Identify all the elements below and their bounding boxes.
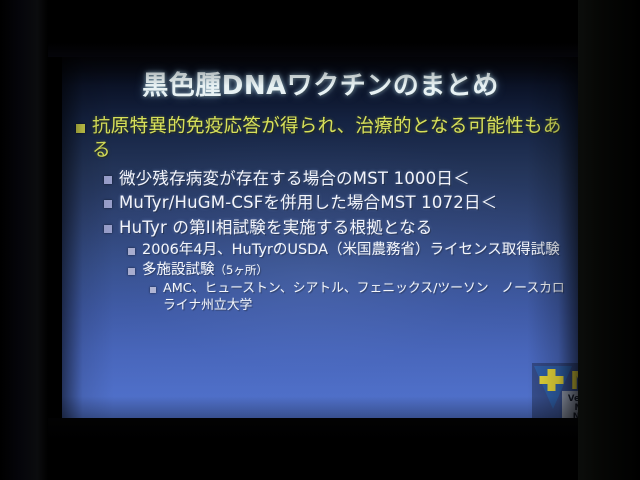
slide-title: 黒色腫DNAワクチンのまとめ: [62, 65, 579, 102]
bullet-level3-usda-license: 2006年4月、HuTyrのUSDA（米国農務省）ライセンス取得試験: [128, 241, 571, 260]
letterbox-right: [578, 0, 640, 480]
bullet-level1: 抗原特異的免疫応答が得られ、治療的となる可能性もある: [76, 115, 571, 164]
bullet-level1-text: 抗原特異的免疫応答が得られ、治療的となる可能性もある: [92, 115, 571, 164]
bullet-level2-hutyr-phase2: HuTyr の第II相試験を実施する根拠となる: [104, 217, 571, 239]
bullet-level3-usda-license-text: 2006年4月、HuTyrのUSDA（米国農務省）ライセンス取得試験: [142, 241, 560, 260]
square-bullet-yellow-icon: [76, 124, 85, 133]
square-bullet-lavender-icon: [150, 287, 156, 293]
slide-body: 抗原特異的免疫応答が得られ、治療的となる可能性もある 微少残存病変が存在する場合…: [76, 115, 571, 315]
bullet-level3-multicenter-text: 多施設試験（5ヶ所）: [142, 261, 268, 280]
bullet-level2-mst1072: MuTyr/HuGM-CSFを併用した場合MST 1072日＜: [104, 192, 571, 214]
square-bullet-lavender-icon: [104, 200, 112, 208]
vmn-logo: MN Veterinary Medical Network: [532, 363, 579, 418]
bullet-level2-mst1000-text: 微少残存病変が存在する場合のMST 1000日＜: [119, 168, 470, 190]
multicenter-count: （5ヶ所）: [215, 263, 268, 277]
letterbox-left: [0, 0, 48, 480]
bullet-level2-hutyr-phase2-text: HuTyr の第II相試験を実施する根拠となる: [119, 217, 433, 239]
square-bullet-lavender-icon: [104, 176, 112, 184]
square-bullet-lavender-icon: [104, 225, 112, 233]
vmn-logo-graphic: MN Veterinary Medical Network: [532, 363, 579, 418]
bullet-level3-multicenter: 多施設試験（5ヶ所）: [128, 261, 571, 280]
presentation-slide: 黒色腫DNAワクチンのまとめ 抗原特異的免疫応答が得られ、治療的となる可能性もあ…: [62, 57, 579, 418]
bullet-level2-mst1000: 微少残存病変が存在する場合のMST 1000日＜: [104, 168, 571, 190]
letterbox-bottom: [0, 418, 640, 480]
square-bullet-lavender-icon: [128, 248, 135, 255]
vmn-tagline-line3: Network: [573, 412, 579, 418]
projected-slide-photo: 黒色腫DNAワクチンのまとめ 抗原特異的免疫応答が得られ、治療的となる可能性もあ…: [0, 0, 640, 480]
bullet-level2-mst1072-text: MuTyr/HuGM-CSFを併用した場合MST 1072日＜: [119, 192, 497, 214]
vmn-cross-horizontal: [540, 376, 564, 384]
bullet-level4-sites-text: AMC、ヒューストン、シアトル、フェニックス/ツーソン ノースカロライナ州立大学: [163, 281, 571, 315]
vmn-wordmark: MN: [570, 366, 579, 395]
square-bullet-lavender-icon: [128, 268, 135, 275]
multicenter-label: 多施設試験: [142, 262, 215, 278]
bullet-level4-sites: AMC、ヒューストン、シアトル、フェニックス/ツーソン ノースカロライナ州立大学: [150, 281, 571, 315]
letterbox-top: [0, 0, 640, 57]
